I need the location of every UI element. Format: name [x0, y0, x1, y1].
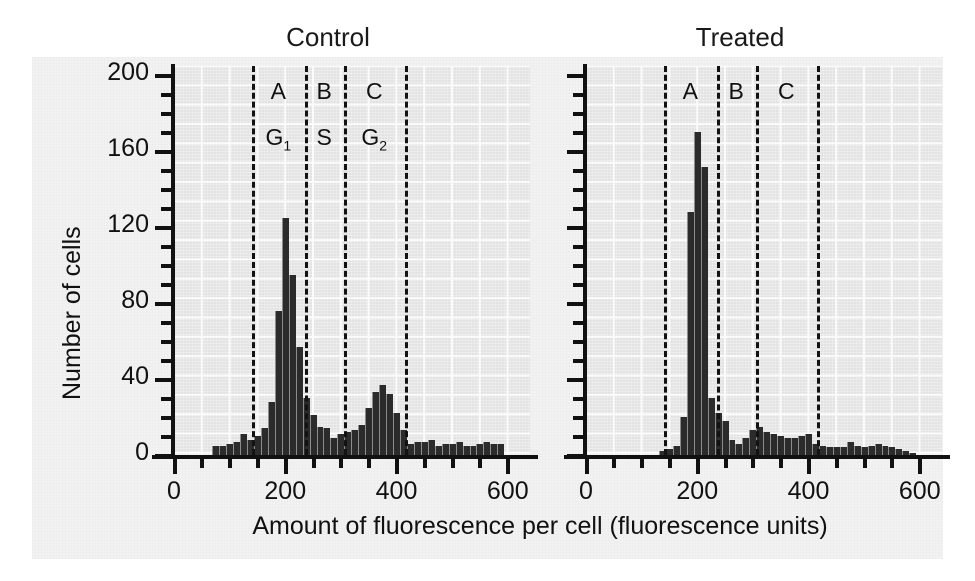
y-axis-major-tick	[155, 302, 172, 306]
histogram-bar	[289, 275, 296, 455]
histogram-bar	[323, 428, 330, 455]
histogram-bar	[310, 415, 317, 455]
y-axis-minor-tick-treated	[573, 397, 584, 401]
x-axis-minor-tick	[751, 459, 755, 468]
histogram-bar	[483, 442, 490, 455]
x-axis-major-tick	[284, 459, 288, 474]
histogram-bar	[729, 440, 736, 455]
histogram-bar	[888, 447, 895, 455]
histogram-bar	[742, 438, 749, 455]
y-axis-minor-tick-treated	[573, 131, 584, 135]
gate-line	[756, 66, 759, 455]
x-axis-minor-tick	[724, 459, 728, 468]
y-axis-major-tick-treated	[567, 74, 584, 78]
x-axis-tick-label: 200	[657, 477, 737, 506]
histogram-bar	[379, 385, 386, 455]
histogram-bar	[442, 444, 449, 455]
histogram-bar	[687, 212, 694, 455]
histogram-bar	[330, 438, 337, 455]
x-axis-minor-tick	[668, 459, 672, 468]
x-axis-tick-label: 600	[880, 477, 960, 506]
x-axis-tick-label: 600	[468, 477, 548, 506]
y-axis-minor-tick-treated	[573, 207, 584, 211]
x-axis-minor-tick	[451, 459, 455, 468]
histogram-bar	[694, 132, 701, 455]
x-axis-minor-tick	[312, 459, 316, 468]
x-axis-tick-label: 0	[134, 477, 214, 506]
gate-letter-label: C	[756, 78, 816, 105]
y-axis-major-tick-treated	[567, 226, 584, 230]
y-axis-minor-tick	[161, 397, 172, 401]
histogram-bar	[673, 446, 680, 455]
histogram-bar	[805, 434, 812, 455]
gate-line	[664, 66, 667, 455]
y-axis-minor-tick	[161, 169, 172, 173]
histogram-bar	[798, 436, 805, 455]
histogram-bar	[219, 446, 226, 455]
histogram-bar	[414, 442, 421, 455]
x-axis-minor-tick	[228, 459, 232, 468]
x-axis-tick-label: 400	[769, 477, 849, 506]
x-axis-major-tick	[696, 459, 700, 474]
x-axis-minor-tick	[423, 459, 427, 468]
y-axis-minor-tick-treated	[573, 435, 584, 439]
x-axis-tick-label: 200	[245, 477, 325, 506]
x-axis-minor-tick	[367, 459, 371, 468]
histogram-bar	[449, 444, 456, 455]
y-axis-minor-tick-treated	[573, 112, 584, 116]
histogram-bar	[854, 446, 861, 455]
histogram-bar	[317, 427, 324, 455]
y-axis-major-tick	[155, 454, 172, 458]
y-axis-major-tick-treated	[567, 454, 584, 458]
y-axis-minor-tick	[161, 340, 172, 344]
histogram-bar	[777, 436, 784, 455]
y-axis-minor-tick-treated	[573, 264, 584, 268]
x-axis-major-tick	[807, 459, 811, 474]
y-axis-minor-tick-treated	[573, 416, 584, 420]
histogram-bars-treated	[586, 66, 942, 455]
histogram-bar	[819, 446, 826, 455]
x-axis-minor-tick	[339, 459, 343, 468]
histogram-bar	[261, 428, 268, 455]
y-axis-minor-tick	[161, 264, 172, 268]
histogram-bar	[212, 446, 219, 455]
histogram-bar	[861, 447, 868, 455]
histogram-bar	[233, 442, 240, 455]
y-axis-minor-tick	[161, 283, 172, 287]
x-axis-minor-tick	[779, 459, 783, 468]
gate-letter-label: C	[344, 78, 404, 105]
histogram-bar	[476, 444, 483, 455]
gate-line	[717, 66, 720, 455]
histogram-bar	[735, 444, 742, 455]
histogram-bar	[680, 417, 687, 455]
y-axis-minor-tick	[161, 359, 172, 363]
y-axis-minor-tick	[161, 435, 172, 439]
histogram-bar	[268, 402, 275, 455]
x-axis-major-tick	[585, 459, 589, 474]
histogram-bar	[770, 434, 777, 455]
y-axis-minor-tick	[161, 112, 172, 116]
y-axis-tick-label: 160	[44, 134, 149, 163]
x-axis-minor-tick	[863, 459, 867, 468]
y-axis-minor-tick-treated	[573, 340, 584, 344]
x-axis-minor-tick	[612, 459, 616, 468]
histogram-bar	[882, 446, 889, 455]
y-axis-minor-tick-treated	[573, 93, 584, 97]
x-axis-major-tick	[395, 459, 399, 474]
x-axis-tick-label: 0	[546, 477, 626, 506]
x-axis-minor-tick	[478, 459, 482, 468]
histogram-bar	[282, 218, 289, 455]
y-axis-major-tick	[155, 226, 172, 230]
y-axis-major-tick	[155, 74, 172, 78]
y-axis-major-tick-treated	[567, 302, 584, 306]
x-axis-major-tick	[918, 459, 922, 474]
cell-cycle-phase-label: G2	[344, 124, 404, 154]
histogram-bar	[463, 446, 470, 455]
y-axis-minor-tick	[161, 207, 172, 211]
y-axis-minor-tick-treated	[573, 321, 584, 325]
y-axis-minor-tick-treated	[573, 283, 584, 287]
histogram-bar	[791, 438, 798, 455]
histogram-bar	[497, 444, 504, 455]
histogram-bar	[435, 446, 442, 455]
histogram-bar	[386, 394, 393, 455]
y-axis-minor-tick	[161, 131, 172, 135]
histogram-bar	[868, 446, 875, 455]
histogram-bar	[296, 347, 303, 455]
x-axis-minor-tick	[256, 459, 260, 468]
histogram-bar	[470, 446, 477, 455]
histogram-bar	[240, 434, 247, 455]
histogram-bar	[784, 438, 791, 455]
x-axis-minor-tick	[835, 459, 839, 468]
histogram-bar	[428, 440, 435, 455]
y-axis-tick-label: 0	[44, 438, 149, 467]
histogram-bar	[826, 447, 833, 455]
histogram-bar	[254, 436, 261, 455]
y-axis-minor-tick-treated	[573, 169, 584, 173]
histogram-bar	[393, 413, 400, 455]
x-axis-title: Amount of fluorescence per cell (fluores…	[150, 512, 930, 541]
panel-title-control: Control	[243, 22, 413, 53]
gate-line	[817, 66, 820, 455]
panel-title-treated: Treated	[655, 22, 825, 53]
y-axis-title: Number of cells	[58, 226, 87, 400]
y-axis-major-tick	[155, 378, 172, 382]
histogram-bar	[840, 447, 847, 455]
y-axis-minor-tick	[161, 188, 172, 192]
y-axis-major-tick-treated	[567, 378, 584, 382]
y-axis-minor-tick	[161, 321, 172, 325]
gate-line	[405, 66, 408, 455]
histogram-bar	[421, 442, 428, 455]
histogram-bar	[701, 167, 708, 455]
histogram-bar	[365, 408, 372, 455]
histogram-bar	[372, 392, 379, 455]
y-axis-minor-tick	[161, 93, 172, 97]
x-axis-major-tick	[506, 459, 510, 474]
x-axis-tick-label: 400	[357, 477, 437, 506]
y-axis-minor-tick-treated	[573, 245, 584, 249]
y-axis-tick-label: 200	[44, 58, 149, 87]
histogram-bar	[226, 444, 233, 455]
histogram-bar	[833, 447, 840, 455]
histogram-bar	[351, 430, 358, 455]
histogram-bar	[275, 311, 282, 455]
y-axis-minor-tick-treated	[573, 188, 584, 192]
histogram-bar	[763, 432, 770, 455]
plot-area-treated	[586, 66, 942, 455]
y-axis-minor-tick	[161, 416, 172, 420]
figure-root: Control Treated AG1BSCG2 ABC 02004006000…	[0, 0, 975, 581]
x-axis-minor-tick	[200, 459, 204, 468]
x-axis-major-tick	[173, 459, 177, 474]
histogram-bar	[456, 442, 463, 455]
x-axis-minor-tick	[640, 459, 644, 468]
y-axis-minor-tick-treated	[573, 359, 584, 363]
histogram-bar	[490, 444, 497, 455]
y-axis-major-tick	[155, 150, 172, 154]
histogram-bar	[708, 398, 715, 455]
histogram-bar	[847, 442, 854, 455]
y-axis-minor-tick	[161, 245, 172, 249]
histogram-bar	[722, 421, 729, 455]
x-axis-minor-tick	[890, 459, 894, 468]
histogram-bar	[358, 425, 365, 455]
y-axis-major-tick-treated	[567, 150, 584, 154]
histogram-bar	[875, 444, 882, 455]
histogram-bar	[407, 444, 414, 455]
